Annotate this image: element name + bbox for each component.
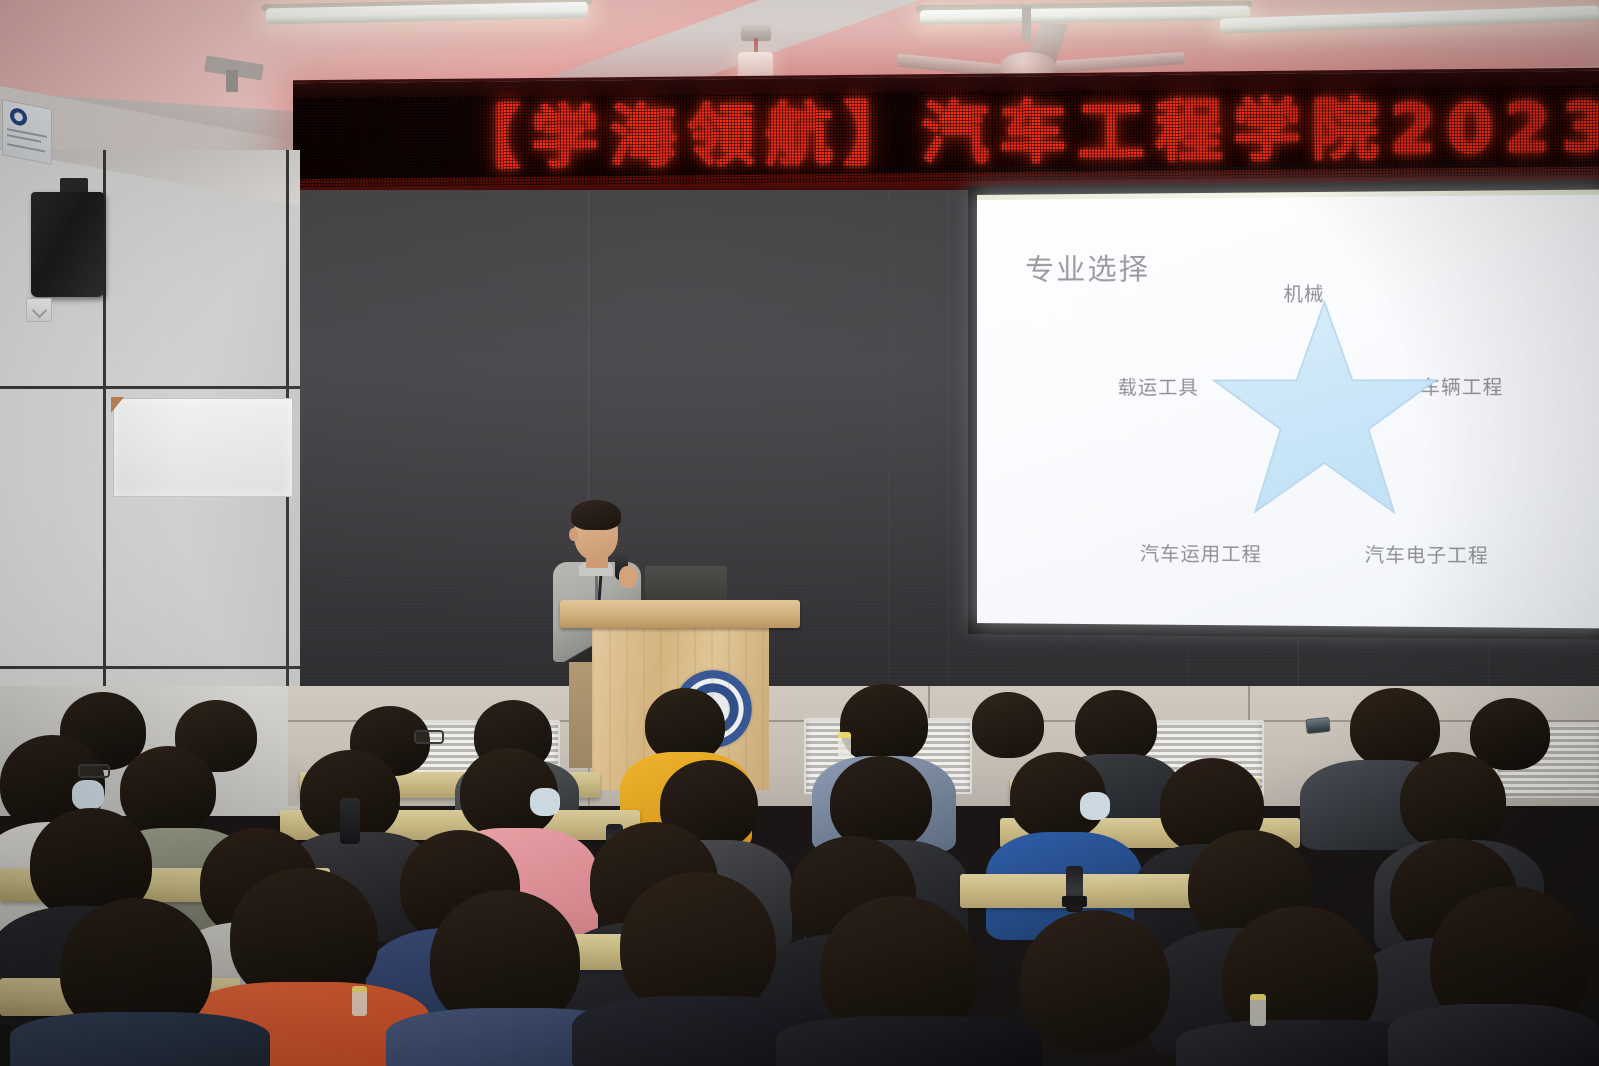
screen-top-edge — [977, 190, 1599, 200]
presenter-hair — [571, 500, 621, 530]
audience-head — [1075, 690, 1157, 764]
audience-head — [645, 688, 725, 762]
smartphone-icon — [1305, 717, 1330, 734]
water-bottle — [352, 986, 367, 1016]
projection-screen: 专业选择 机械 载运工具 车辆工程 汽车运用工程 汽车电子工程 — [977, 190, 1599, 629]
slide-title: 专业选择 — [1025, 246, 1150, 289]
glasses-icon — [78, 764, 110, 778]
audience-head — [1350, 688, 1440, 768]
ceiling-mount-bracket — [226, 70, 238, 92]
projection-screen-frame: 专业选择 机械 载运工具 车辆工程 汽车运用工程 汽车电子工程 — [968, 180, 1599, 640]
star-label-left: 载运工具 — [1118, 373, 1199, 400]
wall-sign-logo-icon — [10, 107, 27, 127]
wall-seam — [0, 386, 300, 389]
glasses-icon — [414, 730, 444, 744]
audience — [0, 660, 1599, 1066]
water-bottle — [838, 732, 851, 758]
power-outlet-icon[interactable] — [26, 298, 52, 322]
presenter-hand — [619, 566, 637, 588]
audience-body — [776, 1016, 1042, 1066]
thermos-flask — [340, 798, 360, 844]
wall-sign-plate — [2, 99, 52, 165]
face-mask-icon — [72, 780, 104, 810]
audience-head — [1020, 910, 1170, 1052]
star-diagram — [1207, 293, 1443, 536]
led-banner-text: 【学海领航】汽车工程学院2023年 — [453, 82, 1599, 186]
audience-head — [1400, 752, 1506, 850]
ceiling-fan-rod — [1022, 6, 1031, 42]
star-label-bottom-right: 汽车电子工程 — [1365, 540, 1489, 568]
podium-desktop — [560, 600, 800, 628]
audience-head — [840, 684, 928, 764]
water-bottle — [1250, 994, 1266, 1026]
star-icon — [1207, 293, 1443, 536]
audience-body — [1388, 1004, 1599, 1066]
audience-head — [120, 746, 216, 834]
presenter-ear — [569, 528, 578, 541]
face-mask-icon — [530, 788, 560, 816]
notice-board — [113, 398, 293, 497]
face-mask-icon — [1080, 792, 1110, 820]
bench-clamp — [1066, 866, 1083, 912]
star-label-bottom-left: 汽车运用工程 — [1140, 539, 1262, 567]
audience-head — [972, 692, 1044, 758]
wall-speaker-icon — [31, 192, 104, 297]
laptop-screen — [645, 566, 727, 604]
lecture-hall-photo: 【学海领航】汽车工程学院2023年 专业选择 — [0, 0, 1599, 1066]
audience-body — [10, 1012, 270, 1066]
